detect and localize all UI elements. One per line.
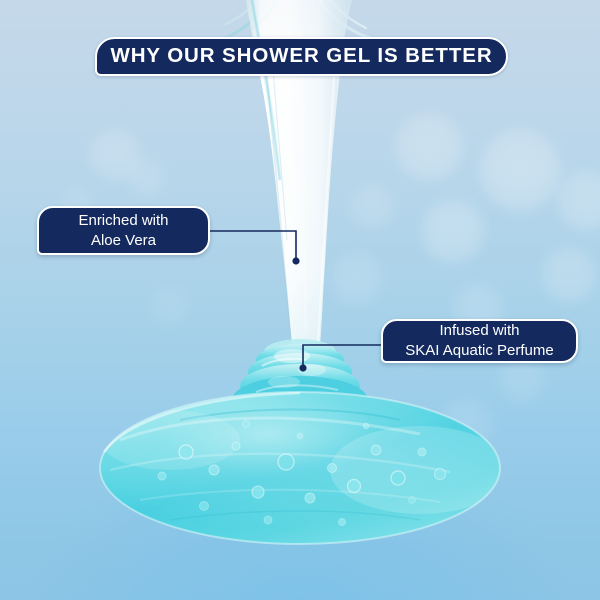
callout-aloe-vera-line2: Aloe Vera xyxy=(91,231,156,251)
callout-aloe-vera-line1: Enriched with xyxy=(78,211,168,231)
callout-skai-line2: SKAI Aquatic Perfume xyxy=(405,341,553,361)
callout-skai-aquatic-perfume[interactable]: Infused with SKAI Aquatic Perfume xyxy=(381,319,578,363)
callout-aloe-vera[interactable]: Enriched with Aloe Vera xyxy=(37,206,210,255)
page-title: WHY OUR SHOWER GEL IS BETTER xyxy=(110,46,492,67)
background-gradient xyxy=(0,0,600,600)
callout-skai-line1: Infused with xyxy=(439,321,519,341)
poster-canvas: WHY OUR SHOWER GEL IS BETTER Enriched wi… xyxy=(0,0,600,600)
title-banner: WHY OUR SHOWER GEL IS BETTER xyxy=(95,37,508,76)
